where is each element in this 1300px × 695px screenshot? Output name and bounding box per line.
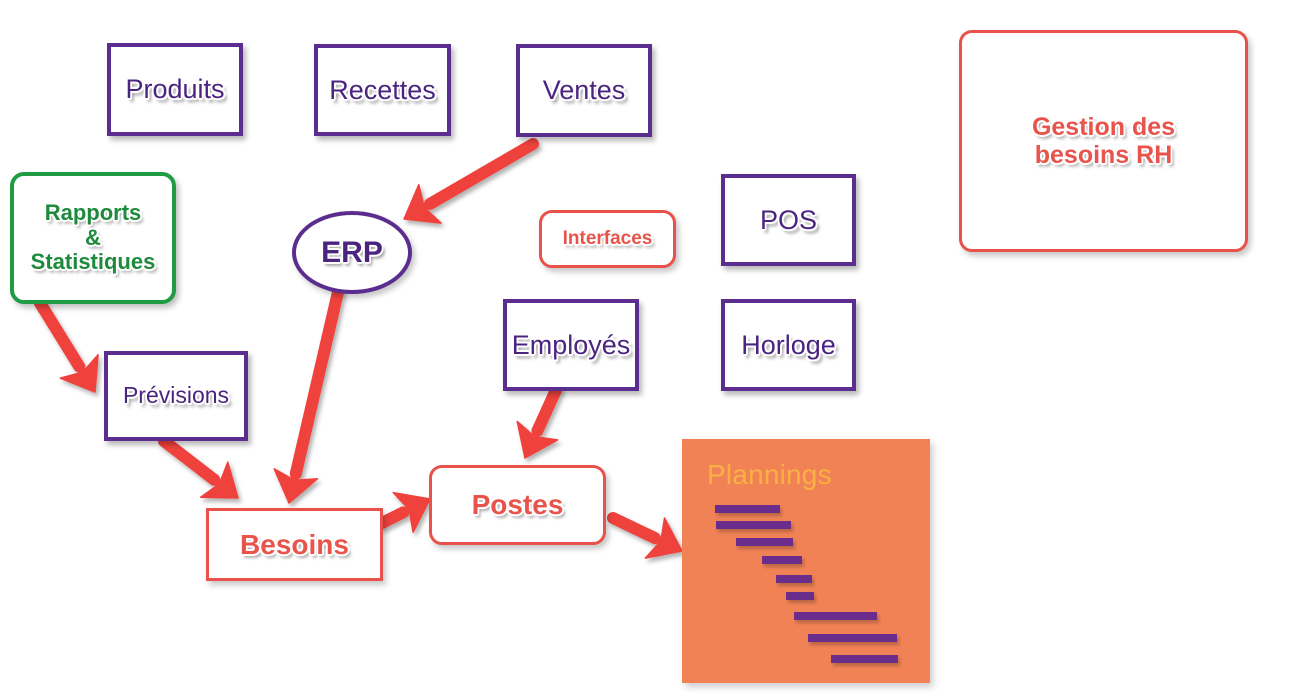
node-label-pos: POS: [760, 205, 817, 235]
arrow-previsions-to-besoins: [164, 441, 238, 498]
gantt-bar[interactable]: [831, 655, 898, 663]
gantt-bar[interactable]: [808, 634, 897, 642]
gantt-bar[interactable]: [762, 556, 802, 564]
node-label-produits: Produits: [125, 74, 224, 104]
node-label-rapports: Rapports & Statistiques: [31, 201, 156, 275]
node-employes[interactable]: Employés: [503, 299, 639, 391]
node-ventes[interactable]: Ventes: [516, 44, 652, 137]
node-label-horloge: Horloge: [741, 330, 836, 360]
node-label-employes: Employés: [512, 330, 631, 360]
node-rh[interactable]: Gestion des besoins RH: [959, 30, 1248, 252]
gantt-bar[interactable]: [776, 575, 812, 583]
node-label-ventes: Ventes: [543, 75, 626, 105]
node-label-rh: Gestion des besoins RH: [1032, 113, 1175, 169]
gantt-bar[interactable]: [794, 612, 877, 620]
arrow-erp-to-besoins: [274, 292, 338, 503]
node-pos[interactable]: POS: [721, 174, 856, 266]
node-label-recettes: Recettes: [329, 75, 436, 105]
node-label-previsions: Prévisions: [123, 383, 229, 409]
node-recettes[interactable]: Recettes: [314, 44, 451, 136]
node-interfaces[interactable]: Interfaces: [539, 210, 676, 268]
plannings-panel[interactable]: Plannings: [682, 439, 930, 683]
node-postes[interactable]: Postes: [429, 465, 606, 545]
arrow-postes-to-plannings: [613, 518, 682, 558]
arrow-employes-to-postes: [517, 390, 557, 458]
node-label-interfaces: Interfaces: [563, 228, 653, 249]
arrow-ventes-to-erp: [404, 144, 533, 223]
gantt-bar[interactable]: [716, 521, 791, 529]
node-label-besoins: Besoins: [240, 529, 349, 560]
node-label-postes: Postes: [472, 489, 564, 520]
node-erp[interactable]: ERP: [292, 211, 412, 294]
gantt-bar[interactable]: [786, 592, 814, 600]
node-rapports[interactable]: Rapports & Statistiques: [10, 172, 176, 304]
node-besoins[interactable]: Besoins: [206, 508, 383, 581]
node-previsions[interactable]: Prévisions: [104, 351, 248, 441]
node-horloge[interactable]: Horloge: [721, 299, 856, 391]
arrow-rapports-to-previsions: [40, 303, 98, 392]
arrow-besoins-to-postes: [382, 493, 430, 533]
node-produits[interactable]: Produits: [107, 43, 243, 136]
gantt-bar[interactable]: [736, 538, 793, 546]
plannings-title: Plannings: [707, 459, 832, 491]
node-label-erp: ERP: [321, 236, 383, 270]
diagram-canvas: ProduitsRecettesVentesRapports & Statist…: [0, 0, 1300, 695]
gantt-bar[interactable]: [715, 505, 780, 513]
